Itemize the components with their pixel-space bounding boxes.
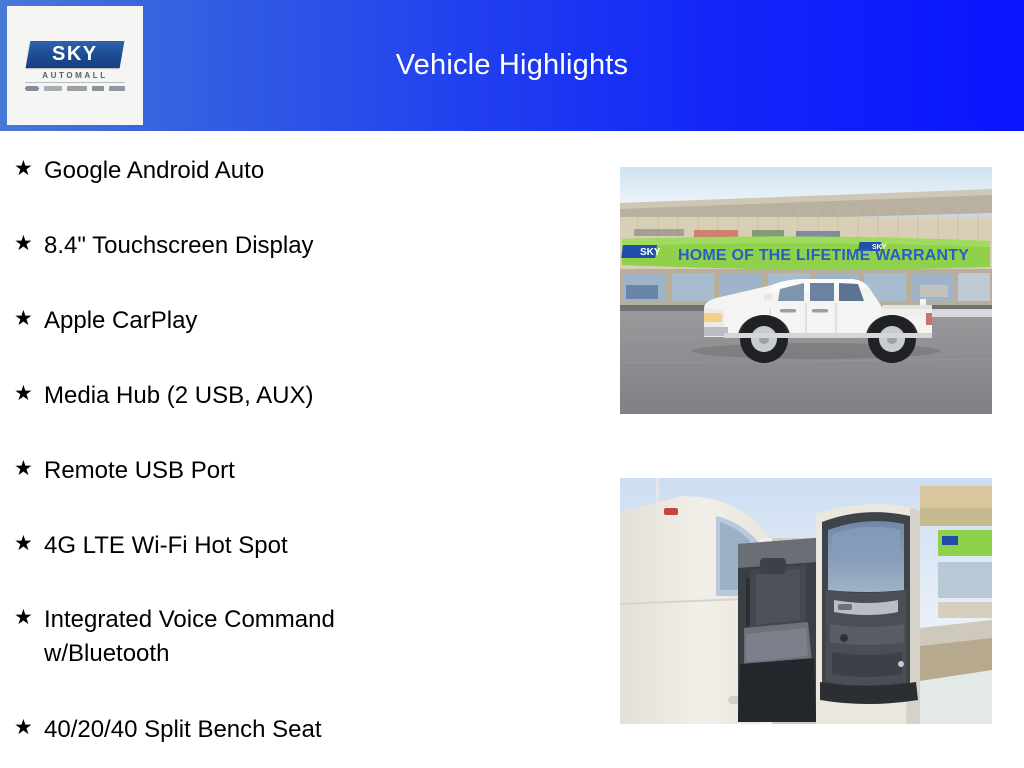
feature-label: Media Hub (2 USB, AUX)	[44, 379, 574, 413]
vehicle-exterior-photo[interactable]: SKY SKY HOME OF THE LIFETIME WARRANTY	[620, 167, 992, 414]
automall-subtitle: AUTOMALL	[42, 72, 108, 80]
page-title: Vehicle Highlights	[0, 0, 1024, 131]
chrysler-brand-icon	[25, 86, 39, 91]
logo-divider	[25, 82, 125, 83]
star-icon: ★	[14, 229, 44, 259]
srt-brand-icon	[109, 86, 125, 91]
feature-label: Apple CarPlay	[44, 304, 574, 338]
sky-wordmark-badge: SKY	[26, 41, 125, 68]
vehicle-interior-illustration	[620, 478, 992, 724]
list-item: ★ Integrated Voice Command w/Bluetooth	[14, 603, 574, 671]
list-item: ★ 40/20/40 Split Bench Seat	[14, 713, 574, 747]
logo-inner: SKY AUTOMALL	[23, 41, 127, 91]
feature-label: Google Android Auto	[44, 154, 574, 188]
list-item: ★ 4G LTE Wi-Fi Hot Spot	[14, 529, 574, 563]
svg-text:SKY: SKY	[640, 247, 661, 258]
star-icon: ★	[14, 379, 44, 409]
feature-label: Integrated Voice Command w/Bluetooth	[44, 603, 574, 671]
list-item: ★ 8.4" Touchscreen Display	[14, 229, 574, 263]
sky-wordmark-text: SKY	[52, 43, 98, 66]
list-item: ★ Apple CarPlay	[14, 304, 574, 338]
jeep-brand-icon	[67, 86, 87, 91]
feature-label: 40/20/40 Split Bench Seat	[44, 713, 574, 747]
sky-automall-logo[interactable]: SKY AUTOMALL	[7, 6, 143, 125]
vehicle-interior-photo[interactable]	[620, 478, 992, 724]
feature-label: 4G LTE Wi-Fi Hot Spot	[44, 529, 574, 563]
brand-marks-row	[25, 86, 125, 91]
star-icon: ★	[14, 454, 44, 484]
dodge-brand-icon	[44, 86, 62, 91]
star-icon: ★	[14, 713, 44, 743]
list-item: ★ Remote USB Port	[14, 454, 574, 488]
vehicle-exterior-illustration: SKY SKY HOME OF THE LIFETIME WARRANTY	[620, 167, 992, 414]
slide-header: Vehicle Highlights	[0, 0, 1024, 131]
ram-brand-icon	[92, 86, 104, 91]
star-icon: ★	[14, 529, 44, 559]
list-item: ★ Media Hub (2 USB, AUX)	[14, 379, 574, 413]
feature-label: 8.4" Touchscreen Display	[44, 229, 574, 263]
star-icon: ★	[14, 154, 44, 184]
vehicle-highlights-slide: Vehicle Highlights SKY AUTOMALL ★ Google…	[0, 0, 1024, 768]
star-icon: ★	[14, 603, 44, 633]
banner-text: HOME OF THE LIFETIME WARRANTY	[678, 247, 969, 264]
star-icon: ★	[14, 304, 44, 334]
feature-label: Remote USB Port	[44, 454, 574, 488]
list-item: ★ Google Android Auto	[14, 154, 574, 188]
